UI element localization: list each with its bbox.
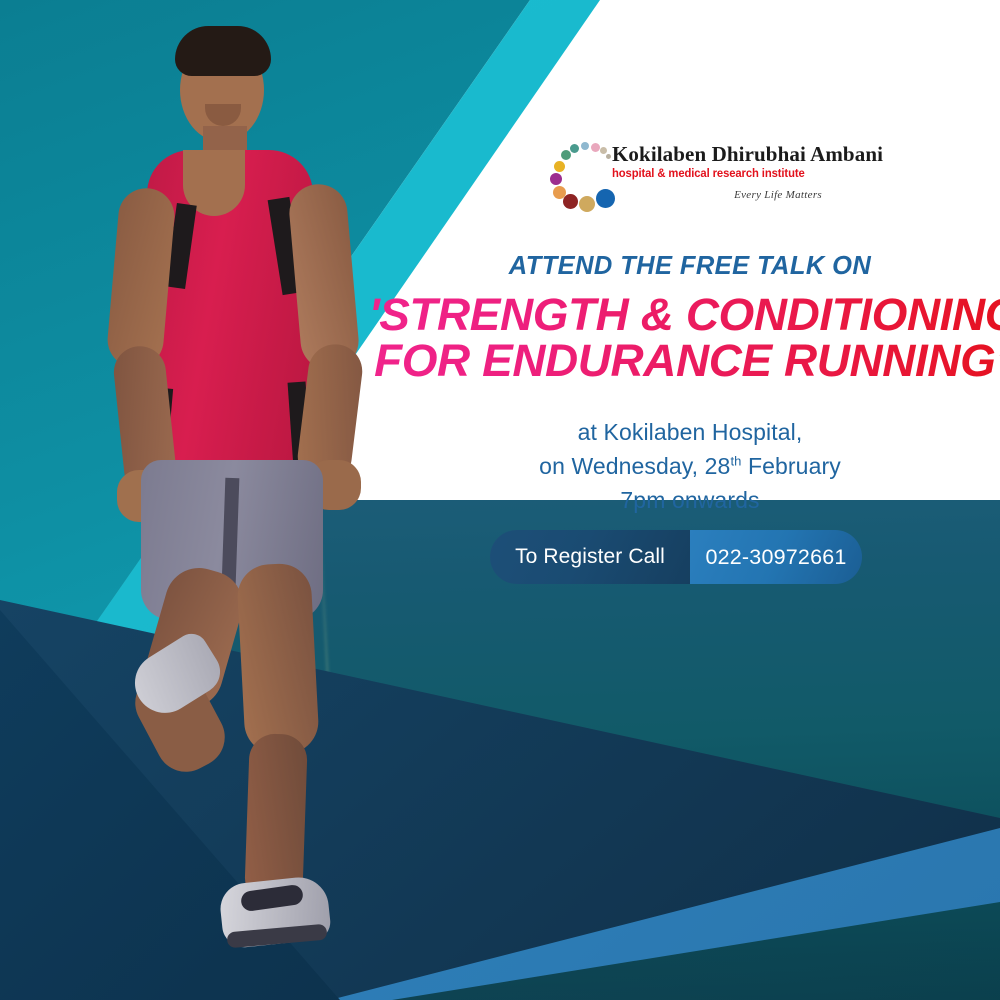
- cta-phone-number[interactable]: 022-30972661: [690, 530, 862, 584]
- headline-line-1: 'STRENGTH & CONDITIONING: [369, 292, 1000, 338]
- logo-name: Kokilaben Dhirubhai Ambani: [612, 144, 822, 165]
- promotional-poster: Kokilaben Dhirubhai Ambani hospital & me…: [0, 0, 1000, 1000]
- logo-wordmark: Kokilaben Dhirubhai Ambani hospital & me…: [612, 144, 822, 201]
- event-date-ordinal: th: [730, 453, 741, 468]
- hospital-logo: Kokilaben Dhirubhai Ambani hospital & me…: [550, 140, 820, 218]
- content-column: Kokilaben Dhirubhai Ambani hospital & me…: [380, 0, 1000, 1000]
- event-date: on Wednesday, 28th February: [380, 453, 1000, 480]
- kicker-text: ATTEND THE FREE TALK ON: [380, 252, 1000, 281]
- event-date-month: February: [742, 453, 841, 479]
- event-time: 7pm onwards: [380, 487, 1000, 514]
- logo-tagline: Every Life Matters: [612, 189, 822, 201]
- logo-subtitle: hospital & medical research institute: [612, 168, 816, 180]
- runner-photo: [55, 8, 415, 970]
- event-venue: at Kokilaben Hospital,: [380, 419, 1000, 446]
- event-date-main: on Wednesday, 28: [539, 453, 730, 479]
- cta-label[interactable]: To Register Call: [490, 530, 690, 584]
- colored-dot-ring-icon: [550, 142, 616, 208]
- register-call-button[interactable]: To Register Call 022-30972661: [490, 530, 862, 584]
- headline-line-2: FOR ENDURANCE RUNNING': [369, 338, 1000, 384]
